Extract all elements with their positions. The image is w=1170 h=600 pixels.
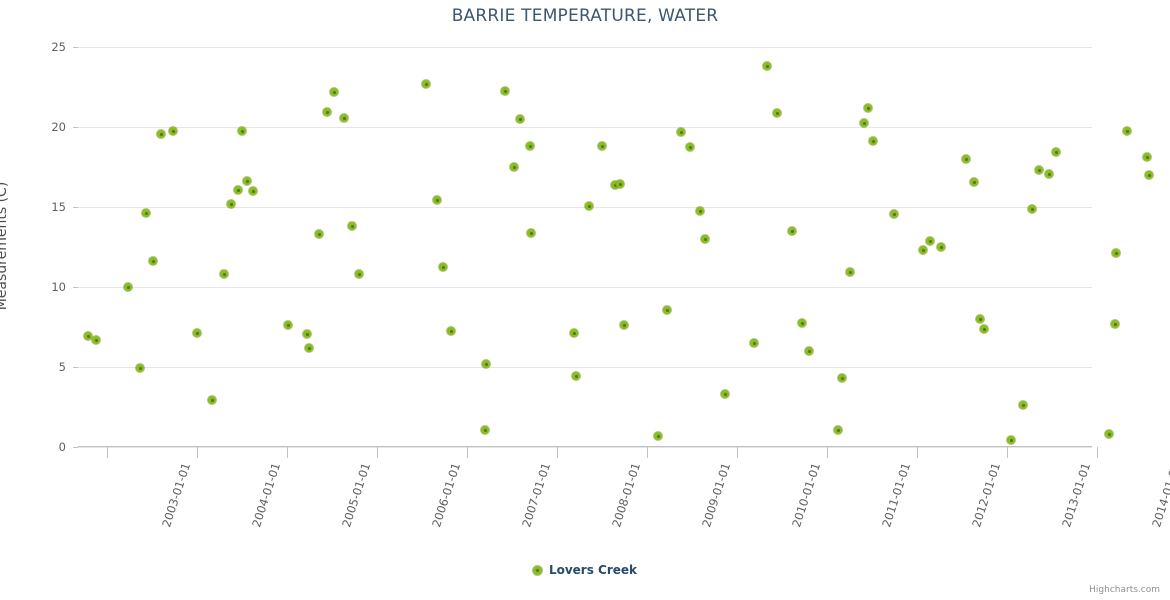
data-point[interactable] <box>149 257 157 265</box>
y-tick-mark <box>73 447 78 448</box>
data-point[interactable] <box>193 329 201 337</box>
data-point[interactable] <box>798 319 806 327</box>
x-tick-mark <box>827 447 828 458</box>
x-axis-tick-label: 2007-01-01 <box>519 461 553 529</box>
y-gridline <box>78 287 1092 288</box>
chart-container: BARRIE TEMPERATURE, WATER Measurements (… <box>0 0 1170 600</box>
data-point[interactable] <box>330 88 338 96</box>
data-point[interactable] <box>157 130 165 138</box>
data-point[interactable] <box>570 329 578 337</box>
chart-legend: Lovers Creek <box>0 563 1170 577</box>
data-point[interactable] <box>208 396 216 404</box>
x-axis-tick-label: 2013-01-01 <box>1059 461 1093 529</box>
data-point[interactable] <box>1035 166 1043 174</box>
data-point[interactable] <box>510 163 518 171</box>
data-point[interactable] <box>220 270 228 278</box>
data-point[interactable] <box>926 237 934 245</box>
data-point[interactable] <box>340 114 348 122</box>
data-point[interactable] <box>234 186 242 194</box>
y-axis-tick-label: 10 <box>6 280 66 294</box>
data-point[interactable] <box>433 196 441 204</box>
data-point[interactable] <box>227 200 235 208</box>
x-tick-mark <box>737 447 738 458</box>
data-point[interactable] <box>838 374 846 382</box>
data-point[interactable] <box>598 142 606 150</box>
data-point[interactable] <box>238 127 246 135</box>
y-gridline <box>78 47 1092 48</box>
data-point[interactable] <box>834 426 842 434</box>
y-gridline <box>78 127 1092 128</box>
data-point[interactable] <box>142 209 150 217</box>
y-axis-tick-label: 25 <box>6 40 66 54</box>
data-point[interactable] <box>136 364 144 372</box>
y-tick-mark <box>73 47 78 48</box>
data-point[interactable] <box>788 227 796 235</box>
data-point[interactable] <box>750 339 758 347</box>
data-point[interactable] <box>890 210 898 218</box>
data-point[interactable] <box>323 108 331 116</box>
data-point[interactable] <box>84 332 92 340</box>
data-point[interactable] <box>516 115 524 123</box>
y-axis-tick-label: 5 <box>6 360 66 374</box>
x-tick-mark <box>1007 447 1008 458</box>
data-point[interactable] <box>980 325 988 333</box>
data-point[interactable] <box>805 347 813 355</box>
x-tick-mark <box>107 447 108 458</box>
data-point[interactable] <box>305 344 313 352</box>
credits-label[interactable]: Highcharts.com <box>1089 585 1160 595</box>
data-point[interactable] <box>481 426 489 434</box>
data-point[interactable] <box>869 137 877 145</box>
data-point[interactable] <box>348 222 356 230</box>
data-point[interactable] <box>919 246 927 254</box>
x-tick-mark <box>647 447 648 458</box>
data-point[interactable] <box>677 128 685 136</box>
data-point[interactable] <box>422 80 430 88</box>
data-point[interactable] <box>1143 153 1151 161</box>
data-point[interactable] <box>482 360 490 368</box>
data-point[interactable] <box>1045 170 1053 178</box>
x-axis-tick-label: 2008-01-01 <box>609 461 643 529</box>
chart-title: BARRIE TEMPERATURE, WATER <box>0 6 1170 26</box>
data-point[interactable] <box>243 177 251 185</box>
data-point[interactable] <box>763 62 771 70</box>
data-point[interactable] <box>721 390 729 398</box>
data-point[interactable] <box>124 283 132 291</box>
y-tick-mark <box>73 127 78 128</box>
data-point[interactable] <box>701 235 709 243</box>
y-tick-mark <box>73 207 78 208</box>
data-point[interactable] <box>860 119 868 127</box>
x-tick-mark <box>287 447 288 458</box>
y-tick-mark <box>73 367 78 368</box>
data-point[interactable] <box>1028 205 1036 213</box>
data-point[interactable] <box>526 142 534 150</box>
x-axis-tick-label: 2006-01-01 <box>429 461 463 529</box>
y-axis-tick-label: 15 <box>6 200 66 214</box>
data-point[interactable] <box>527 229 535 237</box>
data-point[interactable] <box>501 87 509 95</box>
data-point[interactable] <box>1123 127 1131 135</box>
y-gridline <box>78 367 1092 368</box>
data-point[interactable] <box>1019 401 1027 409</box>
data-point[interactable] <box>447 327 455 335</box>
data-point[interactable] <box>976 315 984 323</box>
plot-area: 05101520252003-01-012004-01-012005-01-01… <box>78 47 1092 447</box>
x-tick-mark <box>197 447 198 458</box>
legend-marker-icon <box>533 566 542 575</box>
x-axis-tick-label: 2003-01-01 <box>159 461 193 529</box>
data-point[interactable] <box>585 202 593 210</box>
data-point[interactable] <box>439 263 447 271</box>
x-axis-tick-label: 2004-01-01 <box>249 461 283 529</box>
data-point[interactable] <box>620 321 628 329</box>
x-tick-mark <box>377 447 378 458</box>
y-tick-mark <box>73 287 78 288</box>
data-point[interactable] <box>864 104 872 112</box>
data-point[interactable] <box>249 187 257 195</box>
x-axis-tick-label: 2011-01-01 <box>879 461 913 529</box>
data-point[interactable] <box>696 207 704 215</box>
data-point[interactable] <box>92 336 100 344</box>
x-axis-tick-label: 2012-01-01 <box>969 461 1003 529</box>
data-point[interactable] <box>1105 430 1113 438</box>
data-point[interactable] <box>1111 320 1119 328</box>
data-point[interactable] <box>686 143 694 151</box>
data-point[interactable] <box>1007 436 1015 444</box>
y-gridline <box>78 447 1092 448</box>
data-point[interactable] <box>284 321 292 329</box>
y-axis-tick-label: 0 <box>6 440 66 454</box>
data-point[interactable] <box>654 432 662 440</box>
data-point[interactable] <box>616 180 624 188</box>
data-point[interactable] <box>937 243 945 251</box>
data-point[interactable] <box>846 268 854 276</box>
data-point[interactable] <box>315 230 323 238</box>
data-point[interactable] <box>970 178 978 186</box>
data-point[interactable] <box>303 330 311 338</box>
x-tick-mark <box>467 447 468 458</box>
x-axis-tick-label: 2014-01-01 <box>1149 461 1170 529</box>
data-point[interactable] <box>962 155 970 163</box>
x-axis-tick-label: 2005-01-01 <box>339 461 373 529</box>
x-axis-tick-label: 2010-01-01 <box>789 461 823 529</box>
data-point[interactable] <box>572 372 580 380</box>
data-point[interactable] <box>355 270 363 278</box>
x-tick-mark <box>1097 447 1098 458</box>
data-point[interactable] <box>773 109 781 117</box>
y-axis-title: Measurements (C) <box>0 146 10 346</box>
y-axis-tick-label: 20 <box>6 120 66 134</box>
data-point[interactable] <box>663 306 671 314</box>
x-tick-mark <box>917 447 918 458</box>
data-point[interactable] <box>1145 171 1153 179</box>
x-tick-mark <box>557 447 558 458</box>
data-point[interactable] <box>169 127 177 135</box>
legend-item-lovers-creek[interactable]: Lovers Creek <box>549 563 637 577</box>
data-point[interactable] <box>1052 148 1060 156</box>
x-axis-tick-label: 2009-01-01 <box>699 461 733 529</box>
data-point[interactable] <box>1112 249 1120 257</box>
